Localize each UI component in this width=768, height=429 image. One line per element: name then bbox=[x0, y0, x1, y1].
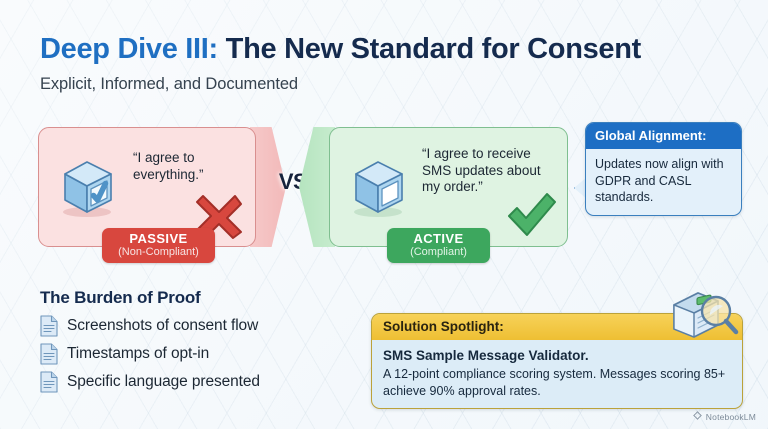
solution-spotlight-body: SMS Sample Message Validator. A 12-point… bbox=[372, 340, 742, 408]
header: Deep Dive III: The New Standard for Cons… bbox=[40, 34, 740, 94]
document-icon bbox=[40, 371, 58, 393]
watermark-label: NotebookLM bbox=[706, 412, 756, 422]
list-item-label: Timestamps of opt-in bbox=[67, 345, 209, 363]
document-icon bbox=[40, 343, 58, 365]
list-item: Specific language presented bbox=[40, 371, 360, 393]
active-badge-label: ACTIVE bbox=[399, 232, 478, 246]
list-item: Timestamps of opt-in bbox=[40, 343, 360, 365]
page-title-rest: The New Standard for Consent bbox=[218, 33, 641, 65]
page-title: Deep Dive III: The New Standard for Cons… bbox=[40, 34, 740, 66]
page-title-accent: Deep Dive III: bbox=[40, 33, 218, 65]
active-badge-sublabel: (Compliant) bbox=[399, 247, 478, 259]
green-check-icon bbox=[503, 188, 559, 244]
burden-of-proof-section: The Burden of Proof Screenshots of conse… bbox=[40, 288, 360, 399]
list-item-label: Screenshots of consent flow bbox=[67, 317, 258, 335]
list-item: Screenshots of consent flow bbox=[40, 315, 360, 337]
solution-spotlight-lead: SMS Sample Message Validator. bbox=[383, 347, 731, 365]
passive-status-badge: PASSIVE (Non-Compliant) bbox=[102, 228, 215, 263]
infographic-canvas: Deep Dive III: The New Standard for Cons… bbox=[0, 0, 768, 429]
active-status-badge: ACTIVE (Compliant) bbox=[387, 228, 490, 263]
page-subtitle: Explicit, Informed, and Documented bbox=[40, 75, 740, 94]
checked-checkbox-3d-icon bbox=[53, 150, 127, 224]
document-magnifier-icon bbox=[668, 287, 742, 339]
solution-spotlight-detail: A 12-point compliance scoring system. Me… bbox=[383, 367, 725, 398]
list-item-label: Specific language presented bbox=[67, 373, 260, 391]
notebooklm-icon bbox=[693, 411, 702, 422]
burden-of-proof-title: The Burden of Proof bbox=[40, 288, 360, 308]
document-icon bbox=[40, 315, 58, 337]
passive-quote: “I agree to everything.” bbox=[133, 150, 245, 183]
passive-badge-label: PASSIVE bbox=[114, 232, 203, 246]
global-alignment-heading: Global Alignment: bbox=[586, 123, 741, 149]
empty-checkbox-3d-icon bbox=[344, 150, 418, 224]
watermark: NotebookLM bbox=[693, 411, 756, 422]
global-alignment-callout: Global Alignment: Updates now align with… bbox=[585, 122, 742, 216]
global-alignment-body: Updates now align with GDPR and CASL sta… bbox=[586, 149, 741, 215]
passive-badge-sublabel: (Non-Compliant) bbox=[114, 247, 203, 259]
